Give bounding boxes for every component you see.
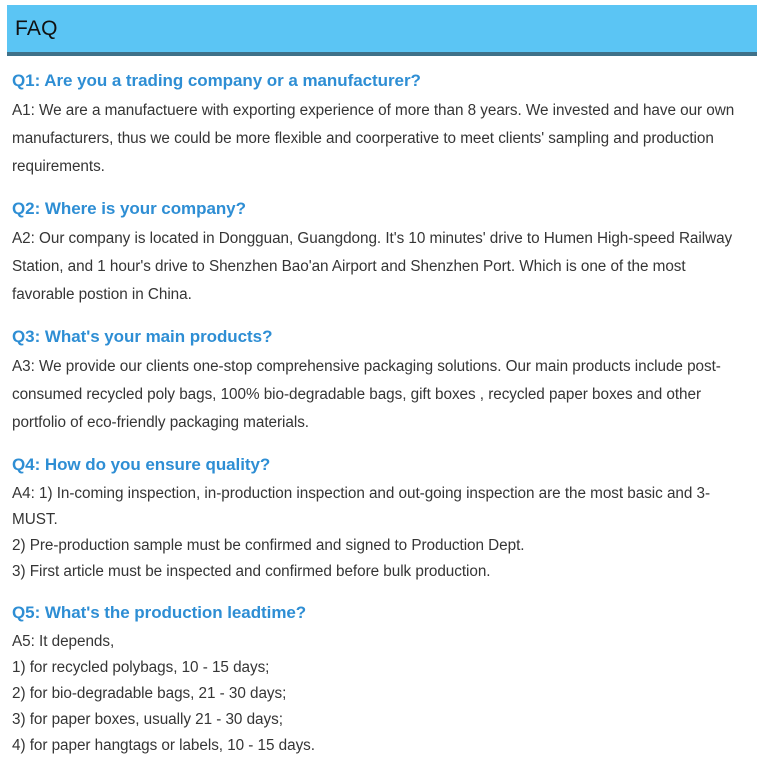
- faq-answer-line: 2) Pre-production sample must be confirm…: [12, 533, 752, 559]
- faq-question-q3: Q3: What's your main products?: [12, 326, 752, 348]
- faq-answer-q4: A4: 1) In-coming inspection, in-producti…: [12, 481, 752, 585]
- faq-item-q1: Q1: Are you a trading company or a manuf…: [12, 70, 752, 181]
- faq-question-q2: Q2: Where is your company?: [12, 198, 752, 220]
- faq-question-q4: Q4: How do you ensure quality?: [12, 454, 752, 476]
- faq-page: FAQ Q1: Are you a trading company or a m…: [0, 0, 765, 748]
- faq-banner-title: FAQ: [15, 17, 58, 41]
- faq-answer-q5: A5: It depends, 1) for recycled polybags…: [12, 629, 752, 759]
- faq-answer-line: A4: 1) In-coming inspection, in-producti…: [12, 481, 752, 533]
- faq-answer-line: 1) for recycled polybags, 10 - 15 days;: [12, 655, 752, 681]
- faq-content: Q1: Are you a trading company or a manuf…: [12, 70, 752, 759]
- faq-answer-q2: A2: Our company is located in Dongguan, …: [12, 225, 752, 309]
- faq-answer-line: 3) for paper boxes, usually 21 - 30 days…: [12, 707, 752, 733]
- faq-item-q4: Q4: How do you ensure quality? A4: 1) In…: [12, 454, 752, 585]
- faq-item-q3: Q3: What's your main products? A3: We pr…: [12, 326, 752, 437]
- faq-answer-line: A5: It depends,: [12, 629, 752, 655]
- faq-answer-line: 3) First article must be inspected and c…: [12, 559, 752, 585]
- faq-item-q2: Q2: Where is your company? A2: Our compa…: [12, 198, 752, 309]
- faq-answer-q3: A3: We provide our clients one-stop comp…: [12, 353, 752, 437]
- faq-answer-q1: A1: We are a manufactuere with exporting…: [12, 97, 752, 181]
- faq-item-q5: Q5: What's the production leadtime? A5: …: [12, 602, 752, 759]
- faq-banner: FAQ: [7, 5, 757, 56]
- faq-answer-line: 2) for bio-degradable bags, 21 - 30 days…: [12, 681, 752, 707]
- faq-question-q1: Q1: Are you a trading company or a manuf…: [12, 70, 752, 92]
- faq-answer-line: 4) for paper hangtags or labels, 10 - 15…: [12, 733, 752, 759]
- faq-question-q5: Q5: What's the production leadtime?: [12, 602, 752, 624]
